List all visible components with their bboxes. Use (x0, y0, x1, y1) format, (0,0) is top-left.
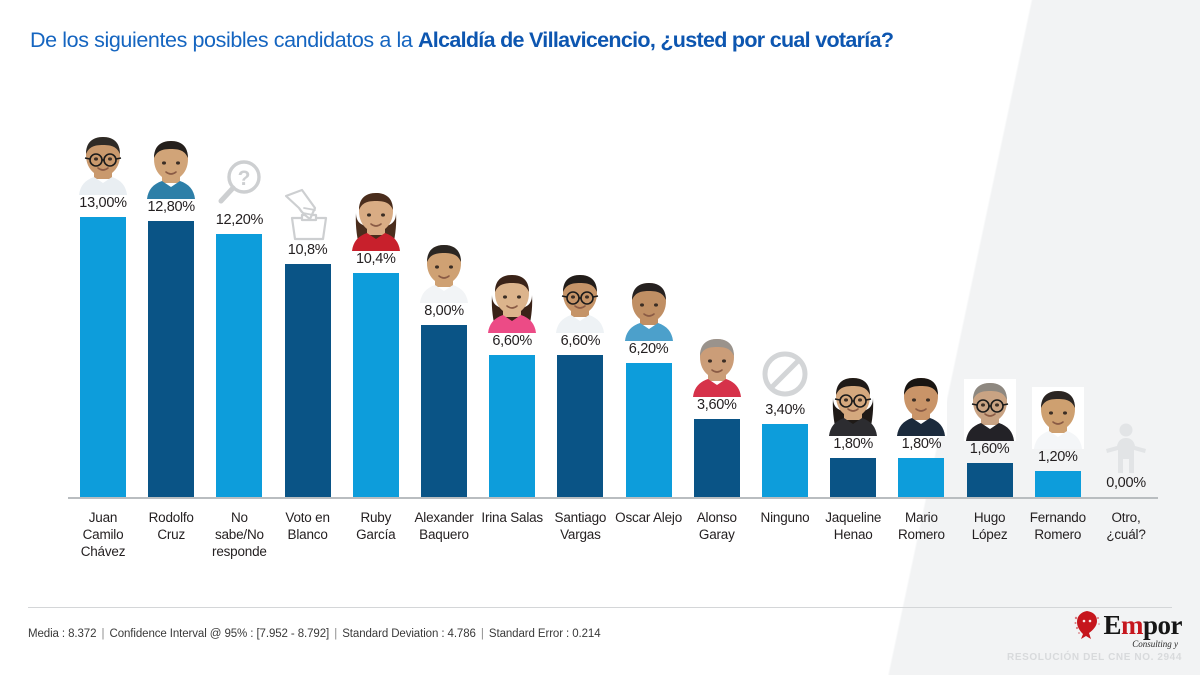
footer-statistics: Media : 8.372 | Confidence Interval @ 95… (28, 628, 601, 640)
bar-value-label: 8,00% (424, 303, 464, 319)
stat-separator-2: | (332, 628, 339, 640)
bar[interactable] (762, 424, 808, 497)
bar[interactable] (830, 458, 876, 497)
stat-standard-error: Standard Error : 0.214 (489, 628, 601, 640)
title-strong: Alcaldía de Villavicencio, ¿usted por cu… (418, 28, 893, 52)
bar-chart: 13,00%JuanCamiloChávez12,80%RodolfoCruz1… (0, 0, 1200, 675)
logo-resolution-text: RESOLUCIÓN DEL CNE NO. 2944 (1007, 652, 1182, 663)
category-label: Otro,¿cuál? (1084, 509, 1168, 543)
candidate-photo (350, 189, 402, 251)
logo-tagline: Consulting y (1007, 639, 1178, 649)
bar[interactable] (694, 419, 740, 497)
person-silhouette-icon (1100, 419, 1152, 475)
bar-value-label: 1,80% (833, 436, 873, 452)
candidate-photo (486, 271, 538, 333)
bar-value-label: 12,80% (147, 199, 194, 215)
category-label-line: Otro, (1084, 509, 1168, 526)
ballot-box-hand-icon (282, 186, 334, 242)
bar-value-label: 10,8% (288, 242, 328, 258)
category-label-line: ¿cuál? (1084, 526, 1168, 543)
bar-value-label: 10,4% (356, 251, 396, 267)
stat-confidence-interval: Confidence Interval @ 95% : [7.952 - 8.7… (110, 628, 330, 640)
candidate-photo (77, 133, 129, 195)
title-lead: De los siguientes posibles candidatos a … (30, 28, 418, 52)
bar[interactable] (80, 217, 126, 497)
title-bar: De los siguientes posibles candidatos a … (30, 28, 1170, 54)
logo-word-first: E (1103, 610, 1121, 640)
no-entry-icon (759, 346, 811, 402)
bar-value-label: 6,20% (629, 341, 669, 357)
bar[interactable] (421, 325, 467, 497)
logo-word-tail: por (1143, 610, 1182, 640)
bar[interactable] (489, 355, 535, 497)
bar-value-label: 0,00% (1106, 475, 1146, 491)
magnifier-question-icon: ? (213, 156, 265, 212)
candidate-photo (145, 137, 197, 199)
page-title: De los siguientes posibles candidatos a … (30, 28, 1170, 54)
bar[interactable] (285, 264, 331, 497)
logo-row: Empor (1007, 610, 1182, 640)
candidate-photo (1032, 387, 1084, 449)
bar[interactable] (557, 355, 603, 497)
bar-value-label: 3,40% (765, 402, 805, 418)
bar-value-label: 13,00% (79, 195, 126, 211)
stat-standard-deviation: Standard Deviation : 4.786 (342, 628, 476, 640)
candidate-photo (418, 241, 470, 303)
bar[interactable] (148, 221, 194, 497)
bar-value-label: 6,60% (492, 333, 532, 349)
brand-logo: Empor Consulting y RESOLUCIÓN DEL CNE NO… (1007, 610, 1182, 663)
lion-icon (1074, 610, 1100, 640)
bar[interactable] (1035, 471, 1081, 497)
candidate-photo (895, 374, 947, 436)
candidate-photo (964, 379, 1016, 441)
candidate-photo (554, 271, 606, 333)
bar[interactable] (353, 273, 399, 497)
stat-media: Media : 8.372 (28, 628, 96, 640)
bar-value-label: 1,60% (970, 441, 1010, 457)
svg-text:?: ? (238, 167, 251, 190)
candidate-photo (827, 374, 879, 436)
bar[interactable] (626, 363, 672, 497)
footer-divider (28, 607, 1172, 608)
bar-value-label: 1,80% (902, 436, 942, 452)
logo-word-red: m (1121, 610, 1143, 640)
bar-value-label: 12,20% (216, 212, 263, 228)
bar[interactable] (898, 458, 944, 497)
stat-separator-1: | (100, 628, 107, 640)
stat-separator-3: | (479, 628, 486, 640)
candidate-photo (623, 279, 675, 341)
bar[interactable] (967, 463, 1013, 497)
bar-value-label: 1,20% (1038, 449, 1078, 465)
candidate-photo (691, 335, 743, 397)
bar[interactable] (216, 234, 262, 497)
bar-value-label: 6,60% (561, 333, 601, 349)
bar-group[interactable]: 0,00%Otro,¿cuál? (1084, 0, 1168, 675)
logo-wordmark: Empor (1103, 612, 1182, 639)
bar-value-label: 3,60% (697, 397, 737, 413)
